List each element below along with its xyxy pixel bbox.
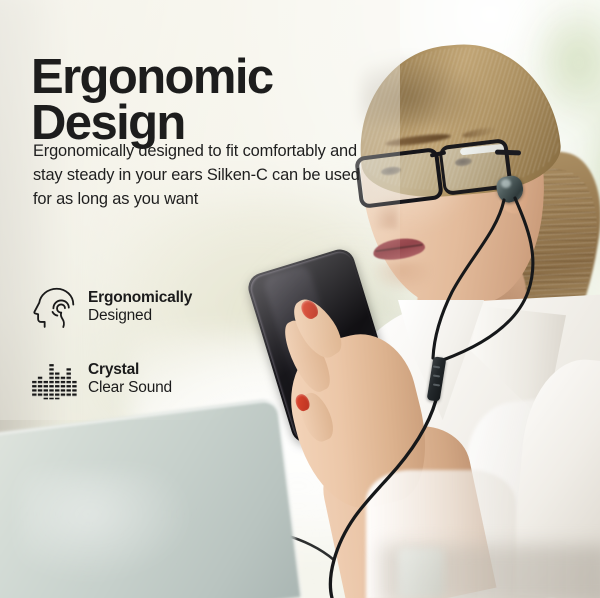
feature-subtitle: Clear Sound — [88, 379, 172, 397]
page-title: Ergonomic Design — [31, 54, 391, 146]
feature-title: Crystal — [88, 361, 172, 379]
feature-label-ergonomic: Ergonomically Designed — [88, 289, 192, 326]
feature-title: Ergonomically — [88, 289, 192, 307]
feature-label-sound: Crystal Clear Sound — [88, 361, 172, 398]
overlay-content: Ergonomic Design Ergonomically designed … — [0, 0, 600, 598]
feature-item-ergonomic: Ergonomically Designed — [30, 281, 192, 333]
equalizer-icon — [30, 353, 82, 405]
description-text: Ergonomically designed to fit comfortabl… — [33, 140, 363, 211]
feature-list: Ergonomically Designed — [30, 281, 192, 425]
equalizer-bars — [31, 358, 81, 400]
product-feature-banner: Ergonomic Design Ergonomically designed … — [0, 0, 600, 598]
head-ear-icon — [30, 281, 82, 333]
feature-subtitle: Designed — [88, 307, 192, 325]
headline-line-2: Design — [31, 100, 391, 146]
feature-item-sound: Crystal Clear Sound — [30, 353, 192, 405]
